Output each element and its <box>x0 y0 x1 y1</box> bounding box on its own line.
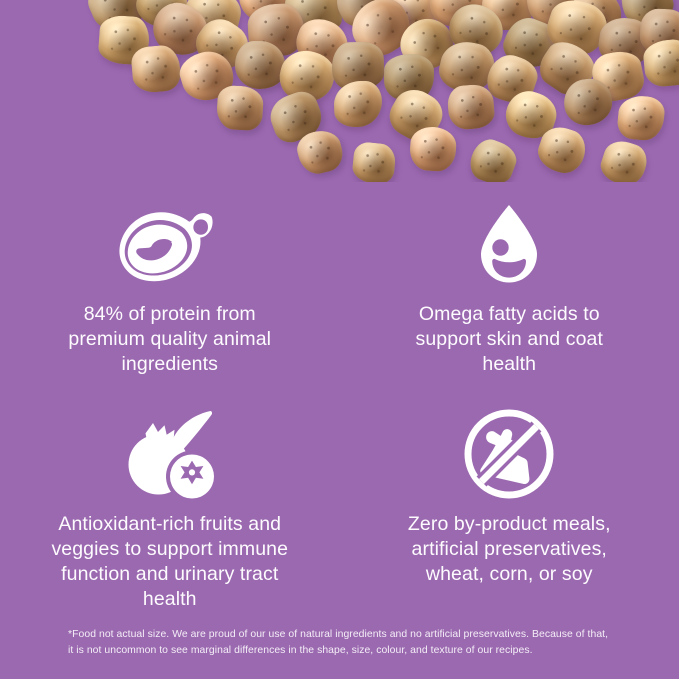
footnote-disclaimer: *Food not actual size. We are proud of o… <box>68 627 616 658</box>
kibble-piece <box>247 2 306 57</box>
kibble-piece <box>294 127 347 178</box>
kibble-piece <box>332 42 384 90</box>
feature-label-protein: 84% of protein from premium quality anim… <box>54 302 286 377</box>
kibble-piece <box>274 45 339 107</box>
kibble-piece <box>597 136 652 182</box>
kibble-piece <box>82 0 151 37</box>
kibble-piece <box>642 38 679 88</box>
kibble-piece <box>465 135 521 182</box>
kibble-piece <box>560 0 630 50</box>
feature-item-omega: Omega fatty acids to support skin and co… <box>340 182 679 392</box>
oil-droplet-icon <box>461 196 557 292</box>
feature-item-protein: 84% of protein from premium quality anim… <box>0 182 340 392</box>
feature-label-omega: Omega fatty acids to support skin and co… <box>393 302 625 377</box>
kibble-piece <box>541 0 612 61</box>
kibble-photo-band <box>0 0 679 182</box>
kibble-piece <box>427 0 490 31</box>
kibble-piece <box>146 0 214 62</box>
product-benefits-panel: 84% of protein from premium quality anim… <box>0 0 679 679</box>
kibble-piece <box>130 44 182 94</box>
kibble-piece <box>382 82 449 148</box>
kibble-piece <box>408 126 457 173</box>
kibble-piece <box>525 0 584 27</box>
fruits-berry-icon <box>122 406 218 502</box>
kibble-piece <box>482 0 532 30</box>
kibble-piece <box>290 13 355 75</box>
feature-grid: 84% of protein from premium quality anim… <box>0 182 679 612</box>
feature-item-antioxidants: Antioxidant-rich fruits and veggies to s… <box>0 392 340 612</box>
kibble-piece <box>615 0 678 33</box>
kibble-piece <box>131 0 193 33</box>
kibble-piece <box>533 121 591 177</box>
kibble-piece <box>446 83 495 130</box>
kibble-piece <box>235 40 285 88</box>
kibble-piece <box>264 87 327 147</box>
kibble-piece <box>178 0 245 47</box>
kibble-piece <box>500 86 562 145</box>
meat-ham-icon <box>122 196 218 292</box>
kibble-piece <box>435 37 498 97</box>
kibble-piece <box>237 0 292 24</box>
kibble-piece <box>498 12 562 75</box>
kibble-piece <box>329 0 400 35</box>
kibble-piece <box>639 8 679 56</box>
kibble-piece <box>532 33 602 102</box>
kibble-piece <box>392 9 463 80</box>
kibble-piece <box>342 0 420 65</box>
kibble-piece <box>97 14 150 65</box>
kibble-piece <box>589 48 647 105</box>
kibble-piece <box>215 85 263 132</box>
kibble-piece <box>384 53 435 100</box>
kibble-piece <box>561 76 615 128</box>
kibble-piece <box>189 10 256 76</box>
kibble-piece <box>334 80 383 127</box>
kibble-piece <box>284 0 342 37</box>
feature-label-antioxidants: Antioxidant-rich fruits and veggies to s… <box>51 512 289 612</box>
kibble-piece <box>175 45 239 106</box>
no-poultry-byproduct-icon <box>461 406 557 502</box>
feature-item-no-byproducts: Zero by-product meals, artificial preser… <box>340 392 679 612</box>
kibble-piece <box>381 0 444 41</box>
kibble-piece <box>616 94 666 142</box>
feature-label-no-byproducts: Zero by-product meals, artificial preser… <box>393 512 625 587</box>
kibble-piece <box>596 14 654 68</box>
kibble-piece <box>351 141 397 182</box>
kibble-piece <box>440 0 512 65</box>
kibble-piece <box>482 49 542 108</box>
